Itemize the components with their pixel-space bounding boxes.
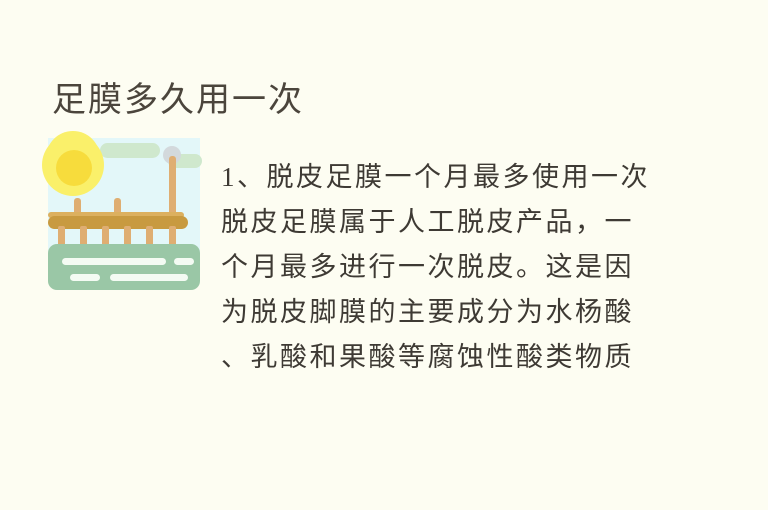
cloud-icon <box>100 143 160 158</box>
article-body: 1、脱皮足膜一个月最多使用一次 脱皮足膜属于人工脱皮产品，一 个月最多进行一次脱… <box>221 155 661 380</box>
article-line: 为脱皮脚膜的主要成分为水杨酸 <box>221 290 661 335</box>
pier-deck <box>48 216 188 229</box>
article-page: 足膜多久用一次 1、脱皮足膜一个月最多使用一次 脱皮足膜属于人工脱皮产品，一 个… <box>0 0 768 510</box>
water-surface <box>48 244 200 290</box>
wave-line <box>70 274 100 281</box>
article-line: 、乳酸和果酸等腐蚀性酸类物质 <box>221 335 661 380</box>
article-line: 1、脱皮足膜一个月最多使用一次 <box>221 155 661 200</box>
article-line: 脱皮足膜属于人工脱皮产品，一 <box>221 200 661 245</box>
wave-line <box>174 258 194 265</box>
lamp-post-icon <box>169 156 176 220</box>
page-title: 足膜多久用一次 <box>52 78 304 122</box>
article-line: 个月最多进行一次脱皮。这是因 <box>221 245 661 290</box>
pier-sunset-illustration <box>48 138 200 290</box>
sun-icon <box>56 150 92 186</box>
wave-line <box>110 274 188 281</box>
wave-line <box>62 258 166 265</box>
